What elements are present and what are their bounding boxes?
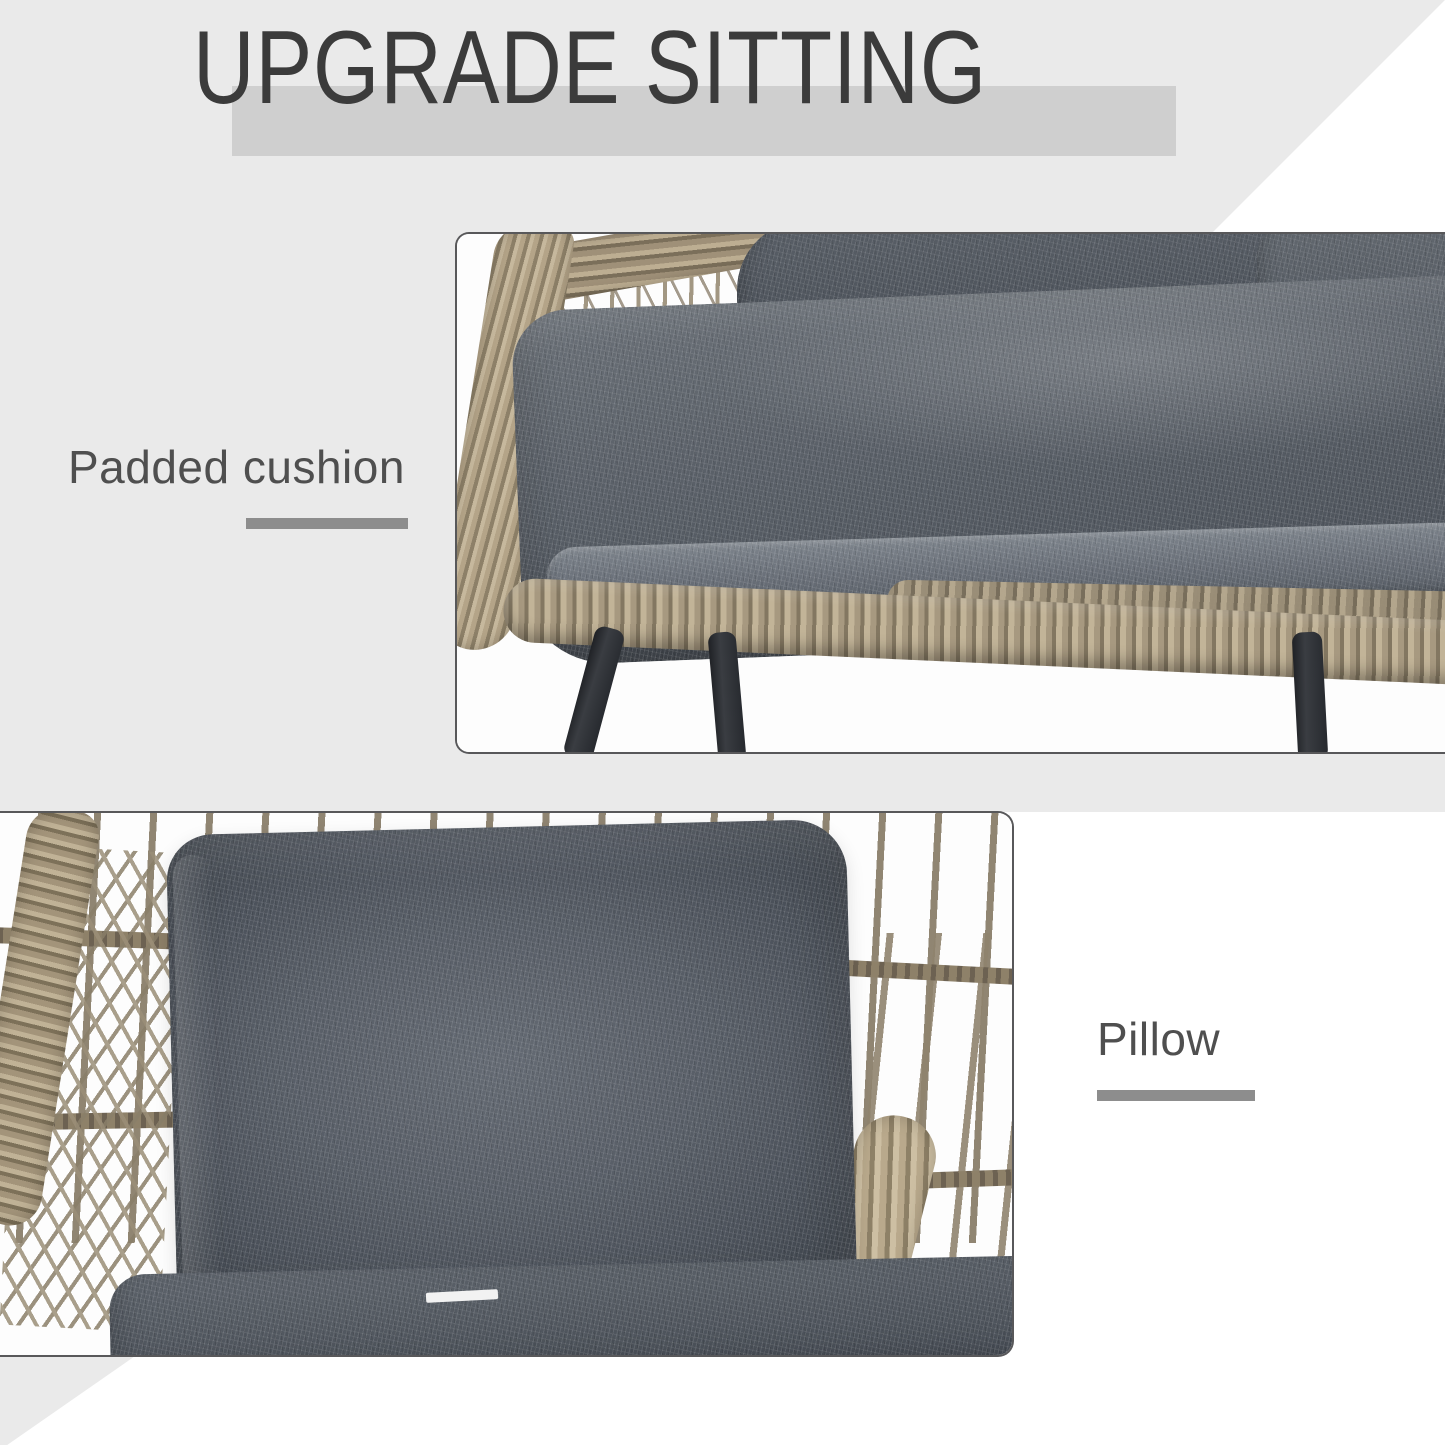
callout-padded-cushion: Padded cushion — [68, 440, 408, 529]
callout-pillow-label: Pillow — [1097, 1012, 1337, 1066]
callout-pillow: Pillow — [1097, 1012, 1337, 1101]
pillow-edge-highlight — [172, 854, 223, 1325]
page-title: UPGRADE SITTING — [106, 14, 1074, 123]
callout-padded-cushion-rule — [246, 518, 408, 529]
photo-pillow — [0, 813, 1012, 1355]
photo-panel-padded-cushion — [455, 232, 1445, 754]
callout-padded-cushion-label: Padded cushion — [68, 440, 408, 494]
callout-pillow-rule — [1097, 1090, 1255, 1101]
photo-padded-cushion — [457, 234, 1445, 752]
photo-panel-pillow — [0, 811, 1014, 1357]
infographic-page: UPGRADE SITTING Padded cushion Pillow — [0, 0, 1445, 1445]
